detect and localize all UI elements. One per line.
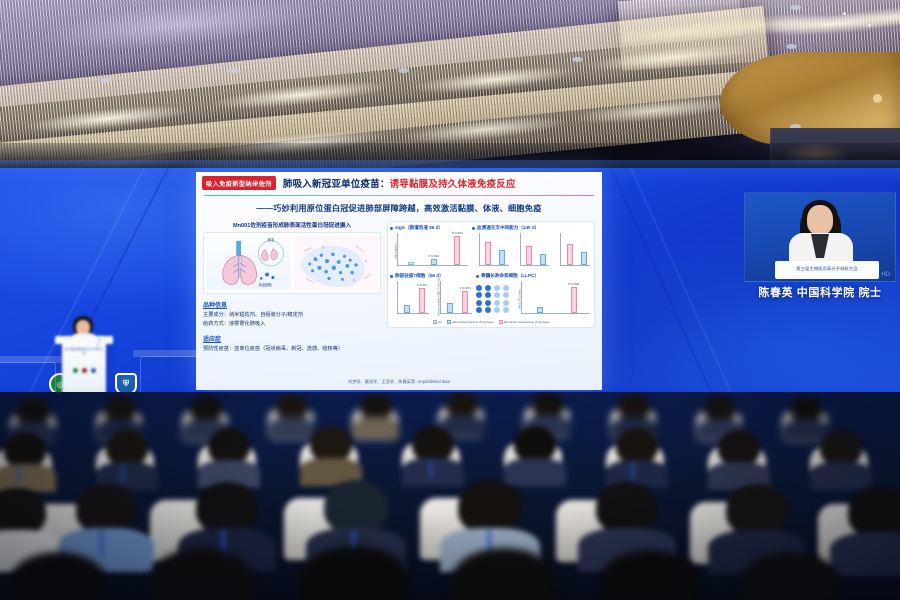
chart-neutralization-ba5 [553,232,592,270]
ceiling-spotlight [398,68,409,73]
lung-diagram: 肺泡 免疫细胞 [207,236,291,290]
slide-title-main: 肺吸入新冠亚单位疫苗： [283,179,390,190]
charts-legend: Ctr alum-based vaccine (5 μg dose) Mn-ba… [390,320,592,324]
audience-member [600,550,700,600]
chart-neutralization-wt [472,232,511,270]
chart-llpc-title: 骨髓长寿命浆细胞（LLPC） [481,273,539,279]
audience-member [616,428,658,482]
figure-title: Mn001佐剂疫苗形成肺表面活性蛋白冠促进摄入 [203,221,381,229]
svg-text:免疫细胞: 免疫细胞 [259,282,273,287]
chart-siga: sIgA（肺灌洗液 56 d） sIgA (ng/mL) P<0.0001 P<… [390,225,470,270]
chart-llpc-plot: BM LLPC (cells) P<0.0001 [514,280,592,318]
chart-trm-title: 肺部驻留T细胞（56 d） [395,273,444,279]
audience-member [4,432,46,486]
ceiling [0,0,900,185]
audience-member [150,548,254,600]
bullet-icon [476,275,479,278]
slide-body: Mn001佐剂疫苗形成肺表面活性蛋白冠促进摄入 [196,221,602,354]
legend-item-2: Mn-based nanovaccine (5 μg dose) [499,320,550,324]
audience-member [360,394,392,434]
ceiling-spotlight [228,68,239,73]
section-line-0-0: 主要成分：纳米锰佐剂、自组装分子/稳定剂 [203,311,381,320]
slide-title-accent: 诱导黏膜及持久体液免疫反应 [390,179,516,190]
chart-siga-title: sIgA（肺灌洗液 56 d） [395,225,443,231]
chart-trm-plot-b: Tissue resident CD8+ T cell (%) P<0.0001 [433,280,474,318]
audience-member [820,430,862,484]
ceiling-light-dot [868,24,871,27]
chart-row-top: sIgA（肺灌洗液 56 d） sIgA (ng/mL) P<0.0001 P<… [390,225,592,270]
bullet-icon [390,227,393,230]
presentation-slide: 吸入免疫新型纳米佐剂 肺吸入新冠亚单位疫苗：诱导黏膜及持久体液免疫反应 ——巧妙… [196,172,602,390]
ceiling-spotlight [786,44,797,49]
slide-subtitle: ——巧妙利用原位蛋白冠促进肺部屏障跨越，高效激活黏膜、体液、细胞免疫 [196,202,602,214]
audience-member [452,548,556,600]
chart-siga-header: sIgA（肺灌洗液 56 d） [390,225,470,231]
ceiling-light-dot [843,12,846,15]
svg-text:肺泡: 肺泡 [268,237,275,242]
audience-member [10,552,106,600]
section-heading-0: 品种信息 [203,300,381,309]
audience-member [208,428,250,482]
feed-watermark: HD [881,272,890,278]
chart-trm-ylabel: Tissue resident CD8+ T cell (%) [438,282,441,316]
ceiling-spotlight [572,57,583,62]
lectern-sign: 第三届生物医用高分子材料大会 [64,347,104,355]
slide-right-column: sIgA（肺灌洗液 56 d） sIgA (ng/mL) P<0.0001 P<… [387,221,595,354]
cell-cluster-icon [294,236,378,290]
chart-llpc-ylabel: BM LLPC (cells) [519,282,522,316]
bullet-icon [390,275,393,278]
legend-item-1: alum-based vaccine (5 μg dose) [447,320,494,324]
chart-trm-header: 肺部驻留T细胞（56 d） [390,273,474,279]
lectern: 第三届生物医用高分子材料大会 [62,340,106,396]
chart-trm-p0: P<0.001 [417,284,427,287]
feed-podium: 第三届生物医用高分子材料大会 [775,261,879,279]
audience-member [790,396,822,436]
slide-header: 吸入免疫新型纳米佐剂 肺吸入新冠亚单位疫苗：诱导黏膜及持久体液免疫反应 [196,172,602,194]
chart-row-bottom: 肺部驻留T细胞（56 d） P<0.001 [390,273,592,318]
chart-trm: 肺部驻留T细胞（56 d） P<0.001 [390,273,474,318]
chart-neutralization-ba1 [513,232,552,270]
bullet-icon [472,227,475,230]
slide-citation: 刘梦雨、戴洛军、王亚轩、陈春英等. Unpublished data [196,379,602,385]
chart-siga-p1: P<0.0001 [452,232,463,235]
conference-hall-photo: ◎ ▮ ⛨ 第三届生物医用 高分子材料大会 [0,0,900,600]
chart-llpc-p0: P<0.0001 [568,283,579,286]
lectern-logos [62,368,106,373]
audience-member [718,430,760,484]
llpc-elispot-plate [476,285,510,314]
chart-siga-ylabel: sIgA (ng/mL) [395,234,398,268]
protein-corona-micrograph [294,236,378,290]
section-line-1-0: 预防性疫苗：亚单位疫苗（冠状病毒、新冠、流感、结核等） [203,345,381,354]
chart-neutralization-title: 血清通交叉中和能力（240 d） [477,225,539,231]
slide-divider [204,195,594,196]
legend-item-0: Ctr [433,320,442,324]
slide-badge: 吸入免疫新型纳米佐剂 [202,176,276,190]
audience-member [412,426,454,480]
section-heading-1: 适应症 [203,334,381,343]
chart-neutralization-header: 血清通交叉中和能力（240 d） [472,225,592,231]
ceiling-spotlight [100,78,111,83]
chart-llpc-header: 骨髓长寿命浆细胞（LLPC） [476,273,592,279]
figure-box: 肺泡 免疫细胞 [203,232,381,294]
section-line-0-1: 给药方式：液雾雾化肺吸入 [203,320,381,329]
slide-title: 肺吸入新冠亚单位疫苗：诱导黏膜及持久体液免疫反应 [283,176,516,190]
charts-panel: sIgA（肺灌洗液 56 d） sIgA (ng/mL) P<0.0001 P<… [387,221,595,328]
chart-siga-p0: P<0.0001 [428,255,439,258]
speaker-caption: 陈春英 中国科学院 院士 [744,284,896,300]
chart-neutralization: 血清通交叉中和能力（240 d） [472,225,592,270]
audience-member [276,394,308,434]
lungs-icon: 肺泡 免疫细胞 [207,236,291,290]
live-video-feed: 第三届生物医用高分子材料大会 HD [744,192,896,282]
audience-member [300,546,408,600]
audience-member [514,426,556,480]
audience-member [740,552,840,600]
feed-podium-sign: 第三届生物医用高分子材料大会 [775,266,879,272]
chart-siga-plot: sIgA (ng/mL) P<0.0001 P<0.0001 [390,232,470,270]
chart-trm-p2: P<0.0001 [460,287,471,290]
audience-member [106,430,148,484]
speaker-face [807,205,833,235]
audience-member [848,486,900,568]
audience-seating [0,392,900,600]
chart-trm-plot-a: P<0.001 [390,280,431,318]
ceiling-spotlight [790,5,801,10]
slide-left-column: Mn001佐剂疫苗形成肺表面活性蛋白冠促进摄入 [203,221,381,354]
audience-member [310,426,352,480]
chart-llpc: 骨髓长寿命浆细胞（LLPC） [476,273,592,318]
